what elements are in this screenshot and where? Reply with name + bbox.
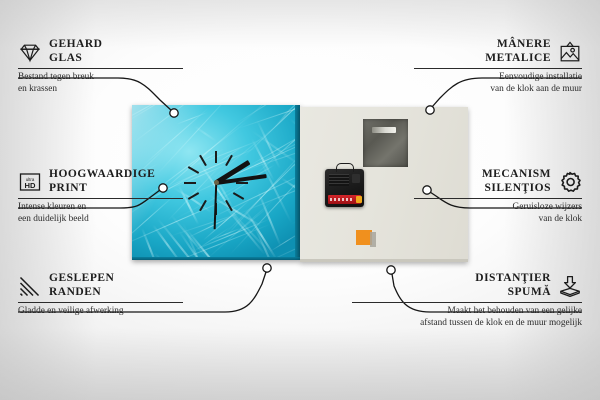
callout-header: MÂNERE METALICE	[414, 38, 582, 65]
callout-title-line2: SPUMĂ	[475, 286, 551, 300]
callout-title-line2: PRINT	[49, 182, 155, 196]
callout-title-line2: RANDEN	[49, 286, 114, 300]
callout-rule	[414, 198, 582, 199]
callout-rule	[352, 302, 582, 303]
hanger-loop	[336, 163, 354, 172]
callout-desc-line1: Intense kleuren en	[18, 202, 183, 214]
callout-title-line2: GLAS	[49, 52, 102, 66]
callout-header: GESLEPEN RANDEN	[18, 272, 183, 299]
picture-hanger-icon	[558, 40, 582, 64]
back-bottom-edge	[300, 259, 468, 262]
callout-distantier-spuma[interactable]: DISTANŢIER SPUMĂ Maakt het behouden van …	[352, 272, 582, 329]
callout-geslepen-randen[interactable]: GESLEPEN RANDEN Gladde en veilige afwerk…	[18, 272, 183, 318]
callout-title-line1: HOOGWAARDIGE	[49, 168, 155, 182]
product-infographic: GEHARD GLAS Bestand tegen breuk en krass…	[0, 0, 600, 400]
callout-desc-line2: en krassen	[18, 84, 183, 96]
callout-desc-line1: Bestand tegen breuk	[18, 72, 183, 84]
callout-title-line1: GEHARD	[49, 38, 102, 52]
callout-title-line2: SILENŢIOS	[482, 182, 551, 196]
callout-desc-line1: Gladde en veilige afwerking	[18, 306, 183, 318]
battery	[328, 195, 361, 204]
callout-title-line2: METALICE	[485, 52, 551, 66]
movement-grill	[329, 174, 349, 186]
callout-desc-line1: Eenvoudige installatie	[414, 72, 582, 84]
callout-title-line1: GESLEPEN	[49, 272, 114, 286]
callout-header: ultra HD HOOGWAARDIGE PRINT	[18, 168, 183, 195]
callout-header: MECANISM SILENŢIOS	[414, 168, 582, 195]
svg-text:HD: HD	[25, 181, 36, 190]
glass-bottom-edge	[132, 257, 300, 260]
callout-title-line1: MÂNERE	[485, 38, 551, 52]
hanger-slot	[372, 127, 396, 133]
diamond-icon	[18, 40, 42, 64]
callout-desc-line2: afstand tussen de klok en de muur mogeli…	[352, 318, 582, 330]
callout-rule	[18, 68, 183, 69]
metal-hanger-plate	[363, 119, 408, 167]
callout-mecanism-silentios[interactable]: MECANISM SILENŢIOS Geruisloze wijzers va…	[414, 168, 582, 225]
callout-desc-line2: van de klok	[414, 214, 582, 226]
callout-hoogwaardige-print[interactable]: ultra HD HOOGWAARDIGE PRINT Intense kleu…	[18, 168, 183, 225]
quartz-movement	[325, 169, 364, 207]
callout-rule	[18, 302, 183, 303]
callout-rule	[414, 68, 582, 69]
hand-center-pin	[214, 180, 219, 185]
callout-desc-line2: van de klok aan de muur	[414, 84, 582, 96]
foam-spacer-icon	[558, 274, 582, 298]
callout-desc-line1: Maakt het behouden van een gelijke	[352, 306, 582, 318]
callout-header: DISTANŢIER SPUMĂ	[352, 272, 582, 299]
callout-desc-line1: Geruisloze wijzers	[414, 202, 582, 214]
callout-title-line1: MECANISM	[482, 168, 551, 182]
callout-rule	[18, 198, 183, 199]
beveled-edges-icon	[18, 274, 42, 298]
callout-title-line1: DISTANŢIER	[475, 272, 551, 286]
callout-manere-metalice[interactable]: MÂNERE METALICE Eenvoudige installatie v…	[414, 38, 582, 95]
gear-icon	[558, 170, 582, 194]
callout-desc-line2: een duidelijk beeld	[18, 214, 183, 226]
ultra-hd-icon: ultra HD	[18, 170, 42, 194]
foam-spacer	[356, 230, 372, 245]
movement-knob	[352, 174, 360, 183]
callout-header: GEHARD GLAS	[18, 38, 183, 65]
callout-gehard-glas[interactable]: GEHARD GLAS Bestand tegen breuk en krass…	[18, 38, 183, 95]
